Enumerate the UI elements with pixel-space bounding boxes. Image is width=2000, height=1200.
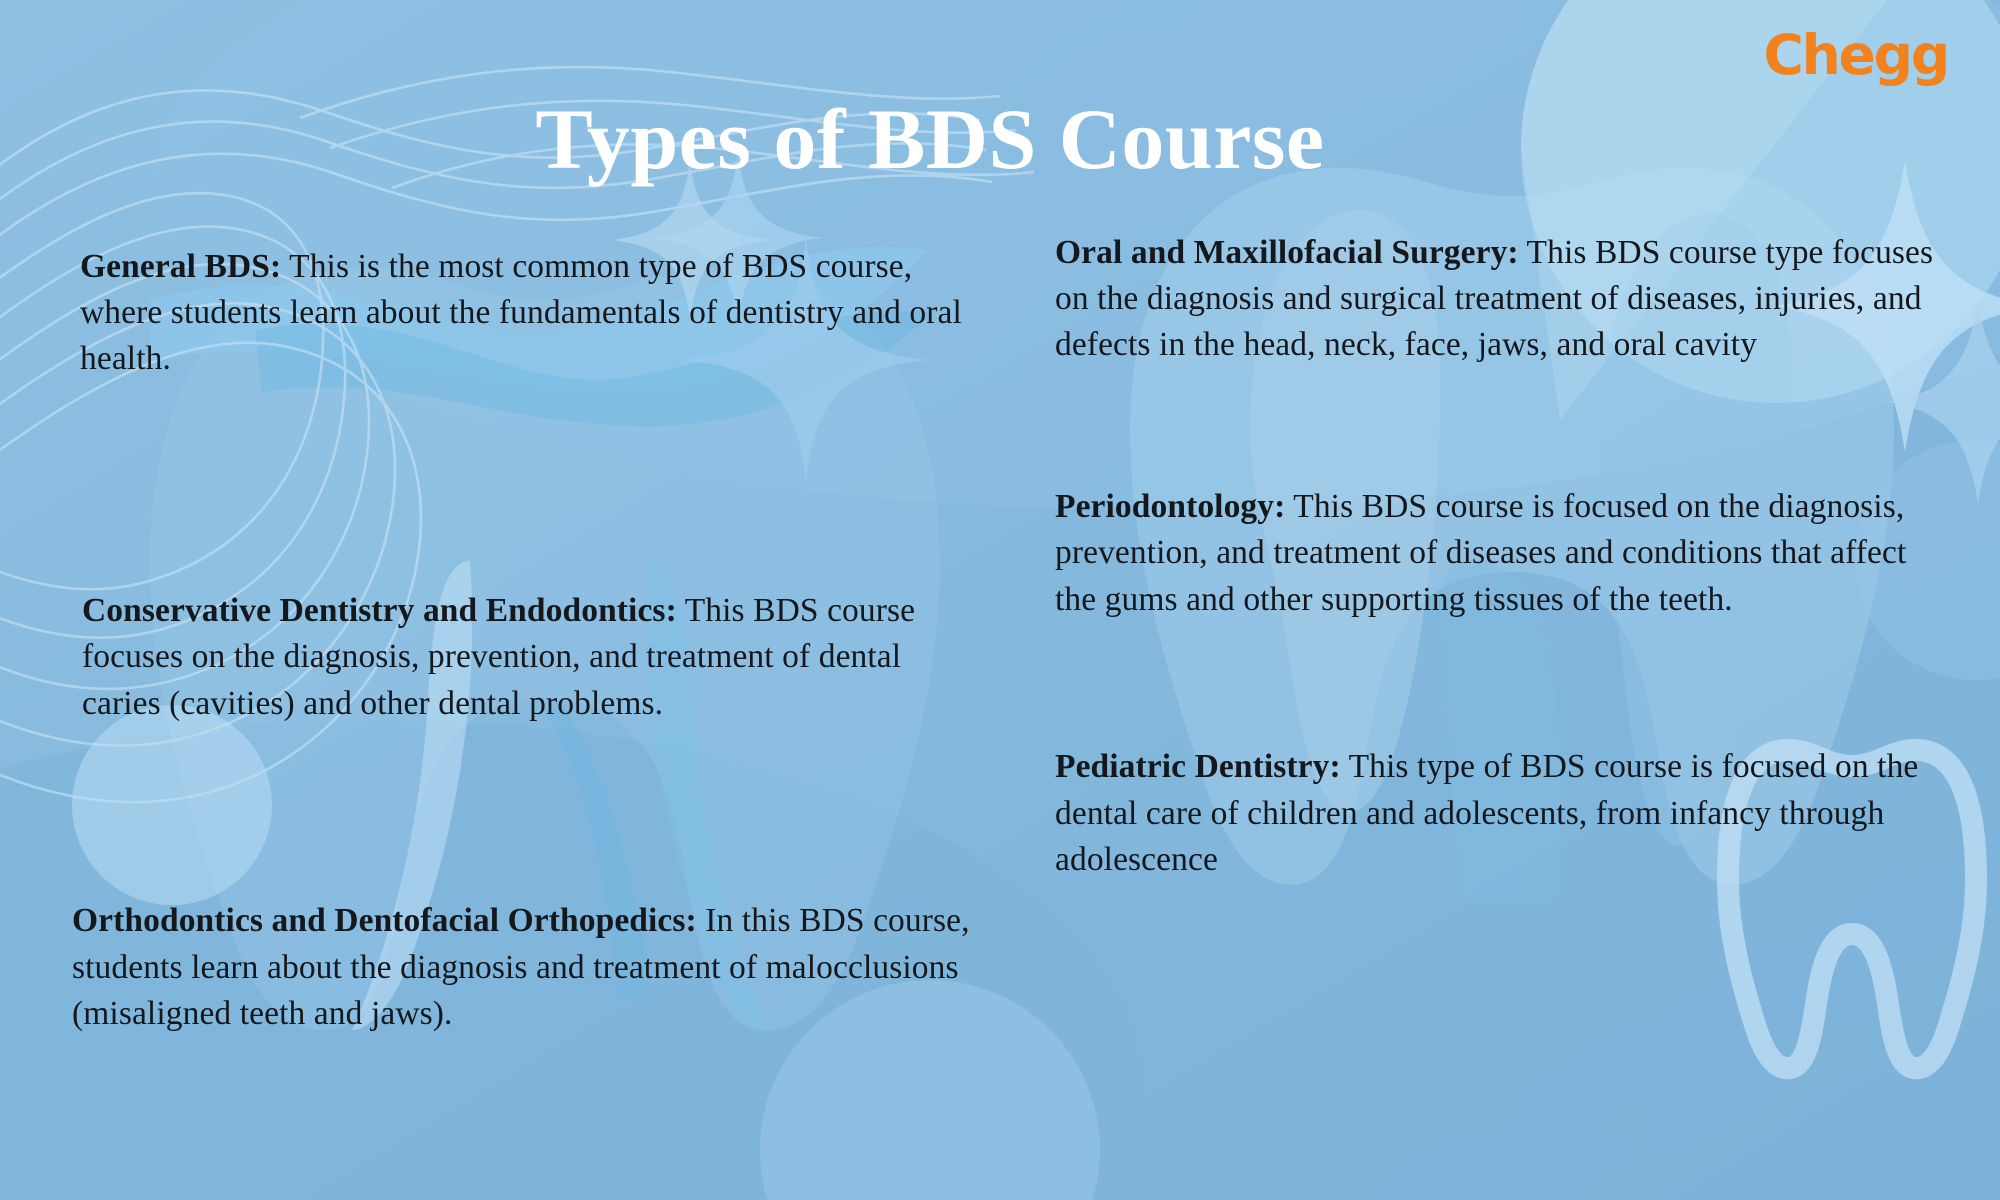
course-block-general-bds: General BDS: This is the most common typ…	[72, 244, 973, 383]
infographic-canvas: Types of BDS Course Chegg General BDS: T…	[0, 0, 2000, 1200]
course-term: Pediatric Dentistry:	[1055, 748, 1341, 785]
left-column: General BDS: This is the most common typ…	[0, 230, 1033, 1160]
course-term: General BDS:	[80, 248, 281, 285]
course-block-periodontology: Periodontology: This BDS course is focus…	[1039, 484, 1940, 623]
content-columns: General BDS: This is the most common typ…	[0, 230, 2000, 1160]
course-term: Conservative Dentistry and Endodontics:	[82, 592, 677, 629]
course-term: Oral and Maxillofacial Surgery:	[1055, 234, 1519, 271]
right-column: Oral and Maxillofacial Surgery: This BDS…	[1033, 230, 2000, 1160]
course-block-orthodontics: Orthodontics and Dentofacial Orthopedics…	[72, 898, 973, 1037]
chegg-logo: Chegg	[1763, 28, 1948, 83]
page-title: Types of BDS Course	[0, 94, 1860, 184]
course-block-pediatric-dentistry: Pediatric Dentistry: This type of BDS co…	[1039, 744, 1940, 883]
course-block-conservative-dentistry: Conservative Dentistry and Endodontics: …	[72, 588, 973, 727]
course-term: Orthodontics and Dentofacial Orthopedics…	[72, 902, 697, 939]
course-block-oral-maxillofacial-surgery: Oral and Maxillofacial Surgery: This BDS…	[1039, 230, 1940, 369]
course-term: Periodontology:	[1055, 488, 1285, 525]
